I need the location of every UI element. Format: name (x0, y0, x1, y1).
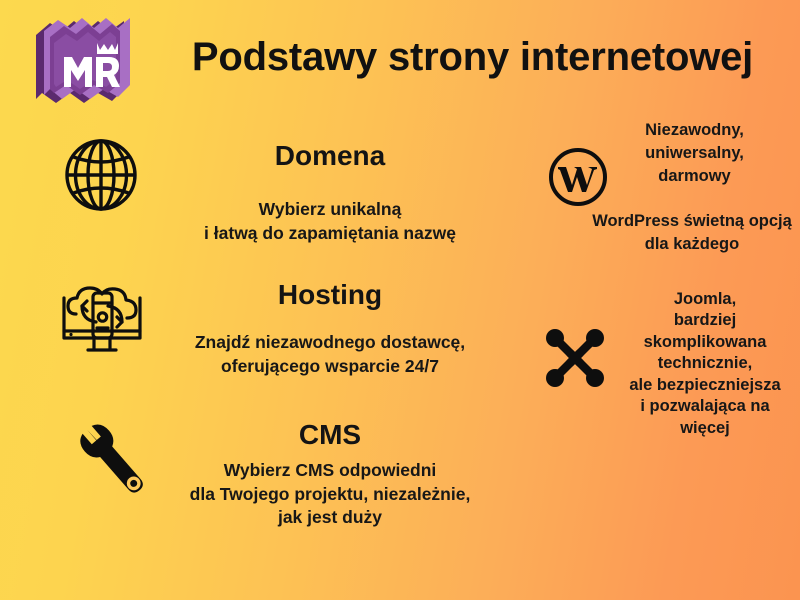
joomla-line-5: ale bezpieczniejsza (610, 375, 800, 396)
joomla-line-4: technicznie, (610, 353, 800, 374)
domena-description: Wybierz unikalną i łatwą do zapamiętania… (150, 198, 510, 245)
cms-line-3: jak jest duży (140, 506, 520, 530)
joomla-description: Joomla, bardziej skomplikowana techniczn… (610, 289, 800, 439)
hosting-description: Znajdź niezawodnego dostawcę, oferująceg… (145, 331, 515, 378)
globe-icon (62, 136, 140, 214)
wordpress-tagline: Niezawodny, uniwersalny, darmowy (592, 119, 797, 187)
wordpress-line-2: dla każdego (584, 233, 800, 256)
joomla-line-2: bardziej (610, 310, 800, 331)
domena-line-1: Wybierz unikalną (150, 198, 510, 222)
joomla-line-6: i pozwalająca na (610, 396, 800, 417)
hosting-line-1: Znajdź niezawodnego dostawcę, (145, 331, 515, 355)
wordpress-line-1: WordPress świetną opcją (584, 210, 800, 233)
cms-description: Wybierz CMS odpowiedni dla Twojego proje… (140, 459, 520, 530)
joomla-line-1: Joomla, (610, 289, 800, 310)
cms-line-2: dla Twojego projektu, niezależnie, (140, 483, 520, 507)
page-title: Podstawy strony internetowej (150, 36, 795, 79)
hosting-heading: Hosting (160, 280, 500, 311)
cms-line-1: Wybierz CMS odpowiedni (140, 459, 520, 483)
domena-line-2: i łatwą do zapamiętania nazwę (150, 222, 510, 246)
joomla-line-3: skomplikowana (610, 332, 800, 353)
hosting-line-2: oferującego wsparcie 24/7 (145, 355, 515, 379)
wordpress-tagline-line-2: uniwersalny, (592, 142, 797, 165)
wordpress-tagline-line-3: darmowy (592, 165, 797, 188)
wordpress-description: WordPress świetną opcją dla każdego (584, 210, 800, 256)
wordpress-tagline-line-1: Niezawodny, (592, 119, 797, 142)
domena-heading: Domena (160, 141, 500, 172)
cloud-server-monitor-icon (58, 276, 146, 364)
joomla-line-7: więcej (610, 418, 800, 439)
joomla-icon (540, 323, 610, 393)
infographic-canvas: Podstawy strony internetowej Domena Wybi… (0, 0, 800, 600)
mr-logo (28, 13, 138, 115)
cms-heading: CMS (160, 420, 500, 451)
